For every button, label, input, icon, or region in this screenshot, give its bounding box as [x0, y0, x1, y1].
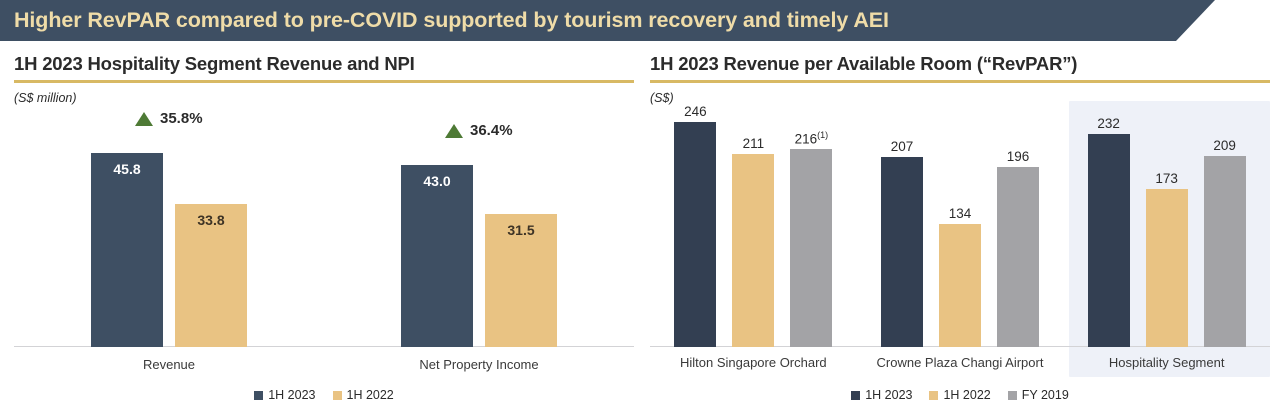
bar-column: 207 [881, 107, 923, 347]
bar [674, 122, 716, 347]
footnote-marker: (1) [817, 130, 828, 140]
bar-value-label: 196 [985, 149, 1051, 164]
bar: 31.5 [485, 214, 557, 347]
right-chart-units: (S$) [650, 91, 1270, 105]
legend-item[interactable]: FY 2019 [1008, 388, 1069, 402]
bar-group: 43.031.5Net Property Income [324, 127, 634, 347]
right-title-rule [650, 80, 1270, 83]
legend-swatch [1008, 391, 1017, 400]
bar-value-label: 207 [869, 139, 935, 154]
right-chart-panel: 1H 2023 Revenue per Available Room (“Rev… [650, 52, 1270, 414]
left-title-rule [14, 80, 634, 83]
legend-item[interactable]: 1H 2023 [851, 388, 912, 402]
bar [939, 224, 981, 347]
category-label: Hospitality Segment [1063, 355, 1270, 370]
slide-title: Higher RevPAR compared to pre-COVID supp… [14, 6, 889, 35]
left-chart-plot: 45.833.8Revenue43.031.5Net Property Inco… [14, 127, 634, 347]
bar-column: 45.8 [91, 127, 163, 347]
bar-column: 216(1) [790, 107, 832, 347]
category-label: Revenue [14, 357, 324, 372]
left-chart-title: 1H 2023 Hospitality Segment Revenue and … [14, 52, 634, 76]
bar-value-label: 33.8 [175, 212, 247, 228]
bar-column: 196 [997, 107, 1039, 347]
bar-column: 31.5 [485, 127, 557, 347]
bar-group: 246211216(1)Hilton Singapore Orchard [650, 107, 857, 347]
bar-column: 33.8 [175, 127, 247, 347]
category-label: Hilton Singapore Orchard [650, 355, 857, 370]
triangle-up-icon [135, 112, 153, 126]
bar-column: 211 [732, 107, 774, 347]
legend-item[interactable]: 1H 2022 [929, 388, 990, 402]
bar-value-label: 232 [1076, 116, 1142, 131]
bar-value-label: 209 [1192, 138, 1258, 153]
bar-value-label: 31.5 [485, 222, 557, 238]
legend-swatch [254, 391, 263, 400]
left-chart-units: (S$ million) [14, 91, 634, 105]
growth-indicator: 35.8% [135, 110, 203, 127]
bar [732, 154, 774, 347]
bar-group: 207134196Crowne Plaza Changi Airport [857, 107, 1064, 347]
bar [997, 167, 1039, 347]
growth-indicator: 36.4% [445, 122, 513, 139]
bar-value-label: 246 [662, 104, 728, 119]
legend-label: 1H 2023 [268, 388, 315, 402]
bar-column: 173 [1146, 107, 1188, 347]
category-label: Crowne Plaza Changi Airport [857, 355, 1064, 370]
legend-item[interactable]: 1H 2023 [254, 388, 315, 402]
bar-value-label: 216(1) [778, 130, 844, 147]
right-chart-plot: 246211216(1)Hilton Singapore Orchard2071… [650, 107, 1270, 347]
right-chart-title: 1H 2023 Revenue per Available Room (“Rev… [650, 52, 1270, 76]
bar [1204, 156, 1246, 347]
bar [1088, 134, 1130, 347]
legend-swatch [851, 391, 860, 400]
legend-label: 1H 2023 [865, 388, 912, 402]
bar-value-label: 211 [720, 136, 786, 151]
legend-swatch [333, 391, 342, 400]
category-label: Net Property Income [324, 357, 634, 372]
legend-label: FY 2019 [1022, 388, 1069, 402]
bar [1146, 189, 1188, 347]
bar: 33.8 [175, 204, 247, 347]
slide-title-banner: Higher RevPAR compared to pre-COVID supp… [0, 0, 1215, 41]
triangle-up-icon [445, 124, 463, 138]
bar-column: 134 [939, 107, 981, 347]
bar: 45.8 [91, 153, 163, 347]
bar-group: 45.833.8Revenue [14, 127, 324, 347]
left-chart-legend: 1H 20231H 2022 [14, 388, 634, 402]
bar-value-label: 134 [927, 206, 993, 221]
bar-value-label: 43.0 [401, 173, 473, 189]
bar [790, 149, 832, 347]
legend-swatch [929, 391, 938, 400]
bar-column: 209 [1204, 107, 1246, 347]
legend-label: 1H 2022 [943, 388, 990, 402]
growth-value: 35.8% [160, 110, 203, 127]
left-chart-panel: 1H 2023 Hospitality Segment Revenue and … [14, 52, 634, 414]
bar-column: 246 [674, 107, 716, 347]
bar-column: 232 [1088, 107, 1130, 347]
growth-value: 36.4% [470, 122, 513, 139]
bar: 43.0 [401, 165, 473, 347]
bar [881, 157, 923, 347]
right-chart-legend: 1H 20231H 2022FY 2019 [650, 388, 1270, 402]
bar-group: 232173209Hospitality Segment [1063, 107, 1270, 347]
bar-value-label: 173 [1134, 171, 1200, 186]
bar-column: 43.0 [401, 127, 473, 347]
legend-item[interactable]: 1H 2022 [333, 388, 394, 402]
legend-label: 1H 2022 [347, 388, 394, 402]
bar-value-label: 45.8 [91, 161, 163, 177]
